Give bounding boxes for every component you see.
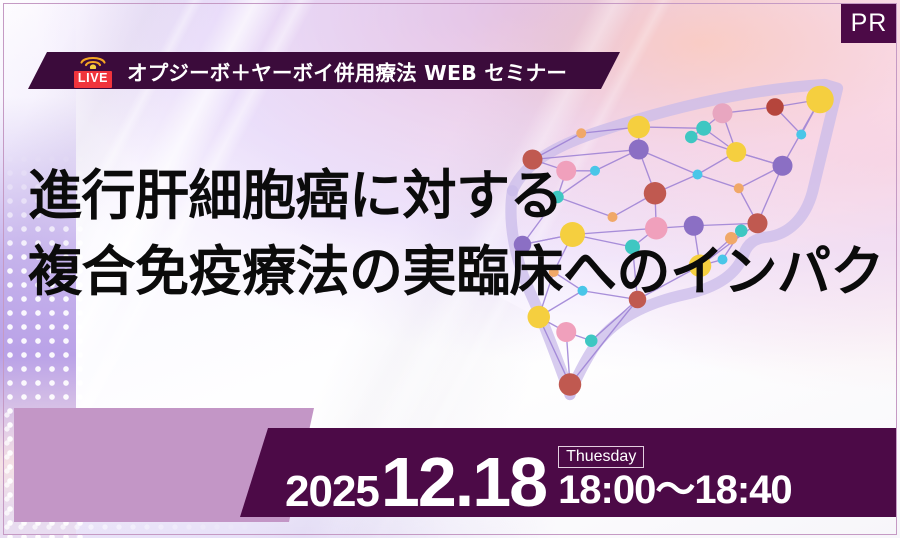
headline-line-1: 進行肝細胞癌に対する xyxy=(28,168,886,223)
network-node xyxy=(528,306,551,329)
headline-line-2: 複合免疫療法の実臨床へのインパクト xyxy=(28,244,886,299)
network-node xyxy=(726,142,746,162)
live-seminar-ribbon: LIVE オプジーボ＋ヤーボイ併用療法 WEB セミナー xyxy=(28,52,620,89)
page-title: 進行肝細胞癌に対する 複合免疫療法の実臨床へのインパクト xyxy=(28,168,886,299)
schedule-year: 2025 xyxy=(285,473,379,512)
schedule-bar: 2025 12.18 Thuesday 18:00〜18:40 xyxy=(240,428,897,517)
live-badge: LIVE xyxy=(72,54,114,88)
network-node xyxy=(806,86,834,114)
network-node xyxy=(576,128,586,138)
pr-badge: PR xyxy=(841,3,897,43)
schedule-inner: 2025 12.18 Thuesday 18:00〜18:40 xyxy=(285,446,792,517)
schedule-weekday: Thuesday xyxy=(558,446,644,469)
network-node xyxy=(628,116,651,139)
schedule-time-range: 18:00〜18:40 xyxy=(558,472,792,509)
network-node xyxy=(585,335,598,348)
network-node xyxy=(796,130,806,140)
live-label: LIVE xyxy=(74,71,112,88)
network-node xyxy=(766,98,784,116)
network-node xyxy=(713,103,733,123)
schedule-month-day: 12.18 xyxy=(381,452,546,512)
network-node xyxy=(685,131,698,144)
network-node xyxy=(556,322,576,342)
network-node xyxy=(696,121,711,136)
network-node xyxy=(559,373,582,396)
schedule-time-column: Thuesday 18:00〜18:40 xyxy=(558,446,792,512)
webinar-banner: PR LIVE オプジーボ＋ヤーボイ併用療法 WEB セミナー 進行肝細胞癌に対… xyxy=(0,0,900,538)
ribbon-title: オプジーボ＋ヤーボイ併用療法 WEB セミナー xyxy=(127,56,567,86)
network-node xyxy=(629,140,649,160)
broadcast-wave-icon xyxy=(78,53,108,69)
